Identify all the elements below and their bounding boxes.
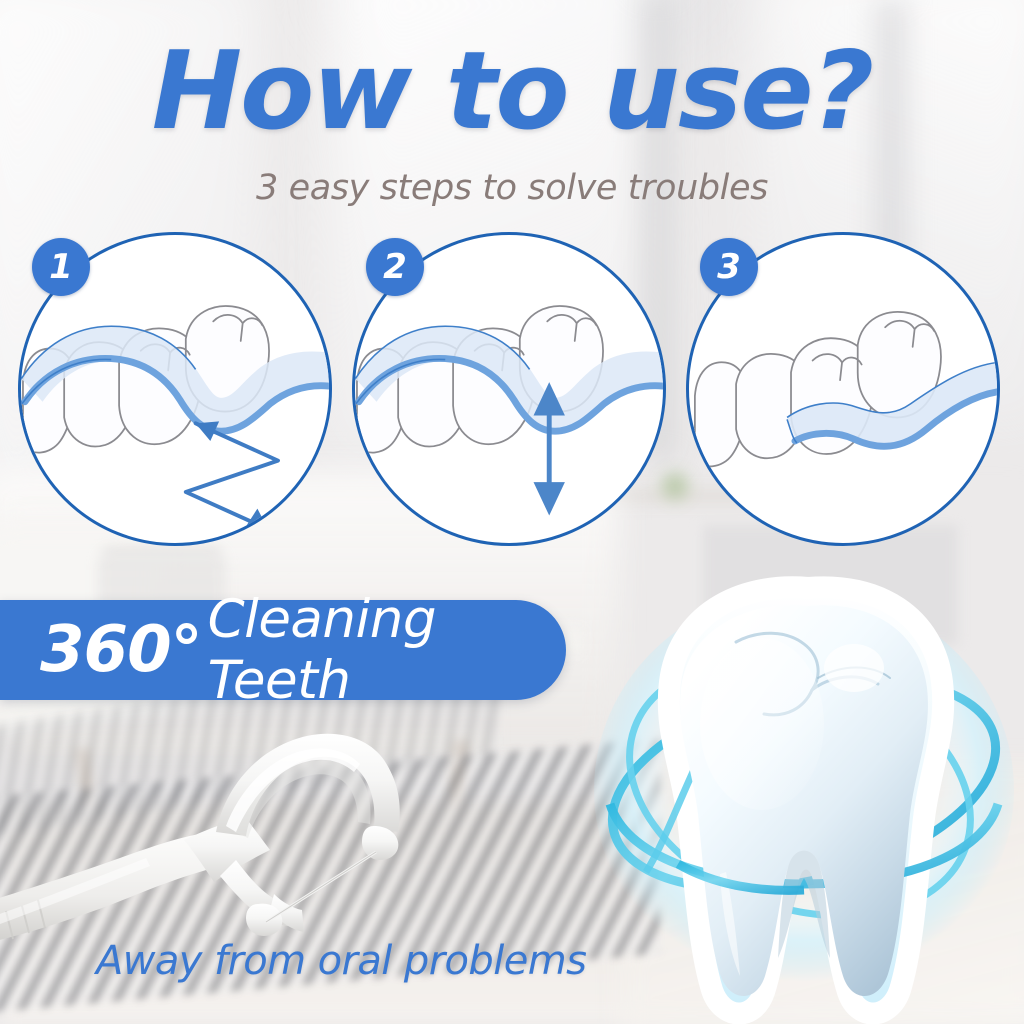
step-3-number: 3 <box>717 247 741 287</box>
steps-row: 1 <box>0 232 1024 552</box>
step-3-badge: 3 <box>700 238 758 296</box>
cleaning-banner: 360° Cleaning Teeth <box>0 600 566 700</box>
step-1-badge: 1 <box>32 238 90 296</box>
molar-tooth-with-orbit-rings-icon <box>586 572 1024 1024</box>
banner-degrees: 360° <box>40 613 202 687</box>
page-subtitle: 3 easy steps to solve troubles <box>0 168 1024 208</box>
step-3[interactable]: 3 <box>686 232 1000 546</box>
step-2-badge: 2 <box>366 238 424 296</box>
promo-image: How to use? 3 easy steps to solve troubl… <box>0 0 1024 1024</box>
banner-label: Cleaning Teeth <box>208 589 566 711</box>
tagline: Away from oral problems <box>96 938 586 984</box>
dental-floss-pick-icon <box>0 700 430 950</box>
step-2-number: 2 <box>383 247 407 287</box>
step-1[interactable]: 1 <box>18 232 332 546</box>
page-title: How to use? <box>0 38 1024 146</box>
step-1-number: 1 <box>49 247 73 287</box>
step-2[interactable]: 2 <box>352 232 666 546</box>
